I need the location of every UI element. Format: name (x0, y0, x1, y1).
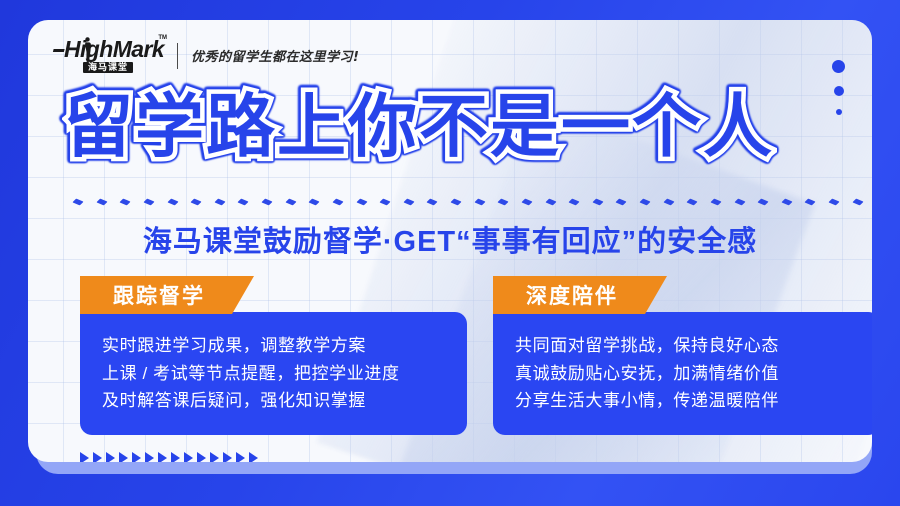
card-tab-header: 跟踪督学 (80, 276, 254, 314)
dash-mark (167, 199, 178, 206)
page-title: 留学路上你不是一个人 (64, 92, 774, 161)
brand-tagline: 优秀的留学生都在这里学习! (191, 46, 359, 65)
feature-card: 深度陪伴 共同面对留学挑战，保持良好心态 真诚鼓励贴心安抚，加满情绪价值 分享生… (493, 276, 872, 435)
dash-mark (663, 199, 674, 206)
dash-mark (710, 199, 721, 206)
logo-figure-icon (82, 36, 93, 62)
dash-mark (521, 199, 532, 206)
card-body: 实时跟进学习成果，调整教学方案 上课 / 考试等节点提醒，把控学业进度 及时解答… (80, 312, 467, 435)
card-tab-label: 深度陪伴 (526, 280, 618, 310)
dot (836, 109, 842, 115)
arrow-triangle-icon (106, 452, 115, 462)
card-line: 真诚鼓励贴心安抚，加满情绪价值 (515, 360, 858, 388)
trademark-symbol: TM (158, 35, 167, 41)
arrow-triangle-icon (93, 452, 102, 462)
dash-mark (616, 199, 627, 206)
card-line: 共同面对留学挑战，保持良好心态 (515, 332, 858, 360)
header-divider (177, 43, 178, 69)
dot (834, 86, 844, 96)
logo-tick-icon (53, 49, 65, 52)
arrow-triangle-icon (80, 452, 89, 462)
arrow-triangle-icon (132, 452, 141, 462)
dash-mark (332, 199, 343, 206)
arrow-triangle-icon (158, 452, 167, 462)
highmark-logo: HighMark TM 海马课堂 (52, 38, 164, 73)
arrow-triangle-icon (184, 452, 193, 462)
dash-mark (120, 199, 131, 206)
dash-mark (805, 199, 816, 206)
arrow-triangle-icon (249, 452, 258, 462)
dash-mark (72, 199, 83, 206)
feature-cards: 跟踪督学 实时跟进学习成果，调整教学方案 上课 / 考试等节点提醒，把控学业进度… (80, 276, 872, 435)
dash-mark (569, 199, 580, 206)
dash-mark (498, 199, 509, 206)
arrow-triangle-icon (197, 452, 206, 462)
dash-mark (450, 199, 461, 206)
dash-mark (356, 199, 367, 206)
dash-mark (734, 199, 745, 206)
dash-mark (592, 199, 603, 206)
card-line: 分享生活大事小情，传递温暖陪伴 (515, 387, 858, 415)
arrow-triangle-icon (171, 452, 180, 462)
dash-mark (214, 199, 225, 206)
content-panel: HighMark TM 海马课堂 优秀的留学生都在这里学习! 留学路上你不是一个… (28, 20, 872, 462)
card-line: 上课 / 考试等节点提醒，把控学业进度 (102, 360, 445, 388)
logo-wordmark: HighMark TM (52, 38, 164, 61)
arrow-triangle-icon (236, 452, 245, 462)
card-line: 及时解答课后疑问，强化知识掌握 (102, 387, 445, 415)
dash-mark (545, 199, 556, 206)
dash-mark (687, 199, 698, 206)
dot-decoration (832, 60, 845, 115)
dash-mark (474, 199, 485, 206)
poster-banner: HighMark TM 海马课堂 优秀的留学生都在这里学习! 留学路上你不是一个… (0, 0, 900, 506)
logo-wordmark-text: HighMark (64, 36, 164, 62)
card-tab-header: 深度陪伴 (493, 276, 667, 314)
feature-card: 跟踪督学 实时跟进学习成果，调整教学方案 上课 / 考试等节点提醒，把控学业进度… (80, 276, 467, 435)
card-tab-label: 跟踪督学 (113, 280, 205, 310)
logo-chinese-name: 海马课堂 (83, 62, 133, 73)
dash-mark (285, 199, 296, 206)
dash-mark (828, 199, 839, 206)
dash-mark (758, 199, 769, 206)
arrow-triangle-icon (223, 452, 232, 462)
card-line: 实时跟进学习成果，调整教学方案 (102, 332, 445, 360)
dash-mark (781, 199, 792, 206)
dash-mark (238, 199, 249, 206)
dash-mark (427, 199, 438, 206)
dash-mark (403, 199, 414, 206)
dash-mark (639, 199, 650, 206)
dash-mark (309, 199, 320, 206)
card-body: 共同面对留学挑战，保持良好心态 真诚鼓励贴心安抚，加满情绪价值 分享生活大事小情… (493, 312, 872, 435)
brand-header: HighMark TM 海马课堂 优秀的留学生都在这里学习! (52, 38, 359, 73)
dot (832, 60, 845, 73)
dash-mark (191, 199, 202, 206)
arrow-triangle-icon (210, 452, 219, 462)
arrow-triangle-icon (119, 452, 128, 462)
arrow-strip (80, 452, 258, 462)
dash-mark (261, 199, 272, 206)
subtitle: 海马课堂鼓励督学·GET“事事有回应”的安全感 (143, 218, 757, 260)
dash-mark (380, 199, 391, 206)
dash-mark (852, 199, 863, 206)
dash-mark (96, 199, 107, 206)
dash-mark (143, 199, 154, 206)
arrow-triangle-icon (145, 452, 154, 462)
dashed-divider (73, 196, 863, 208)
